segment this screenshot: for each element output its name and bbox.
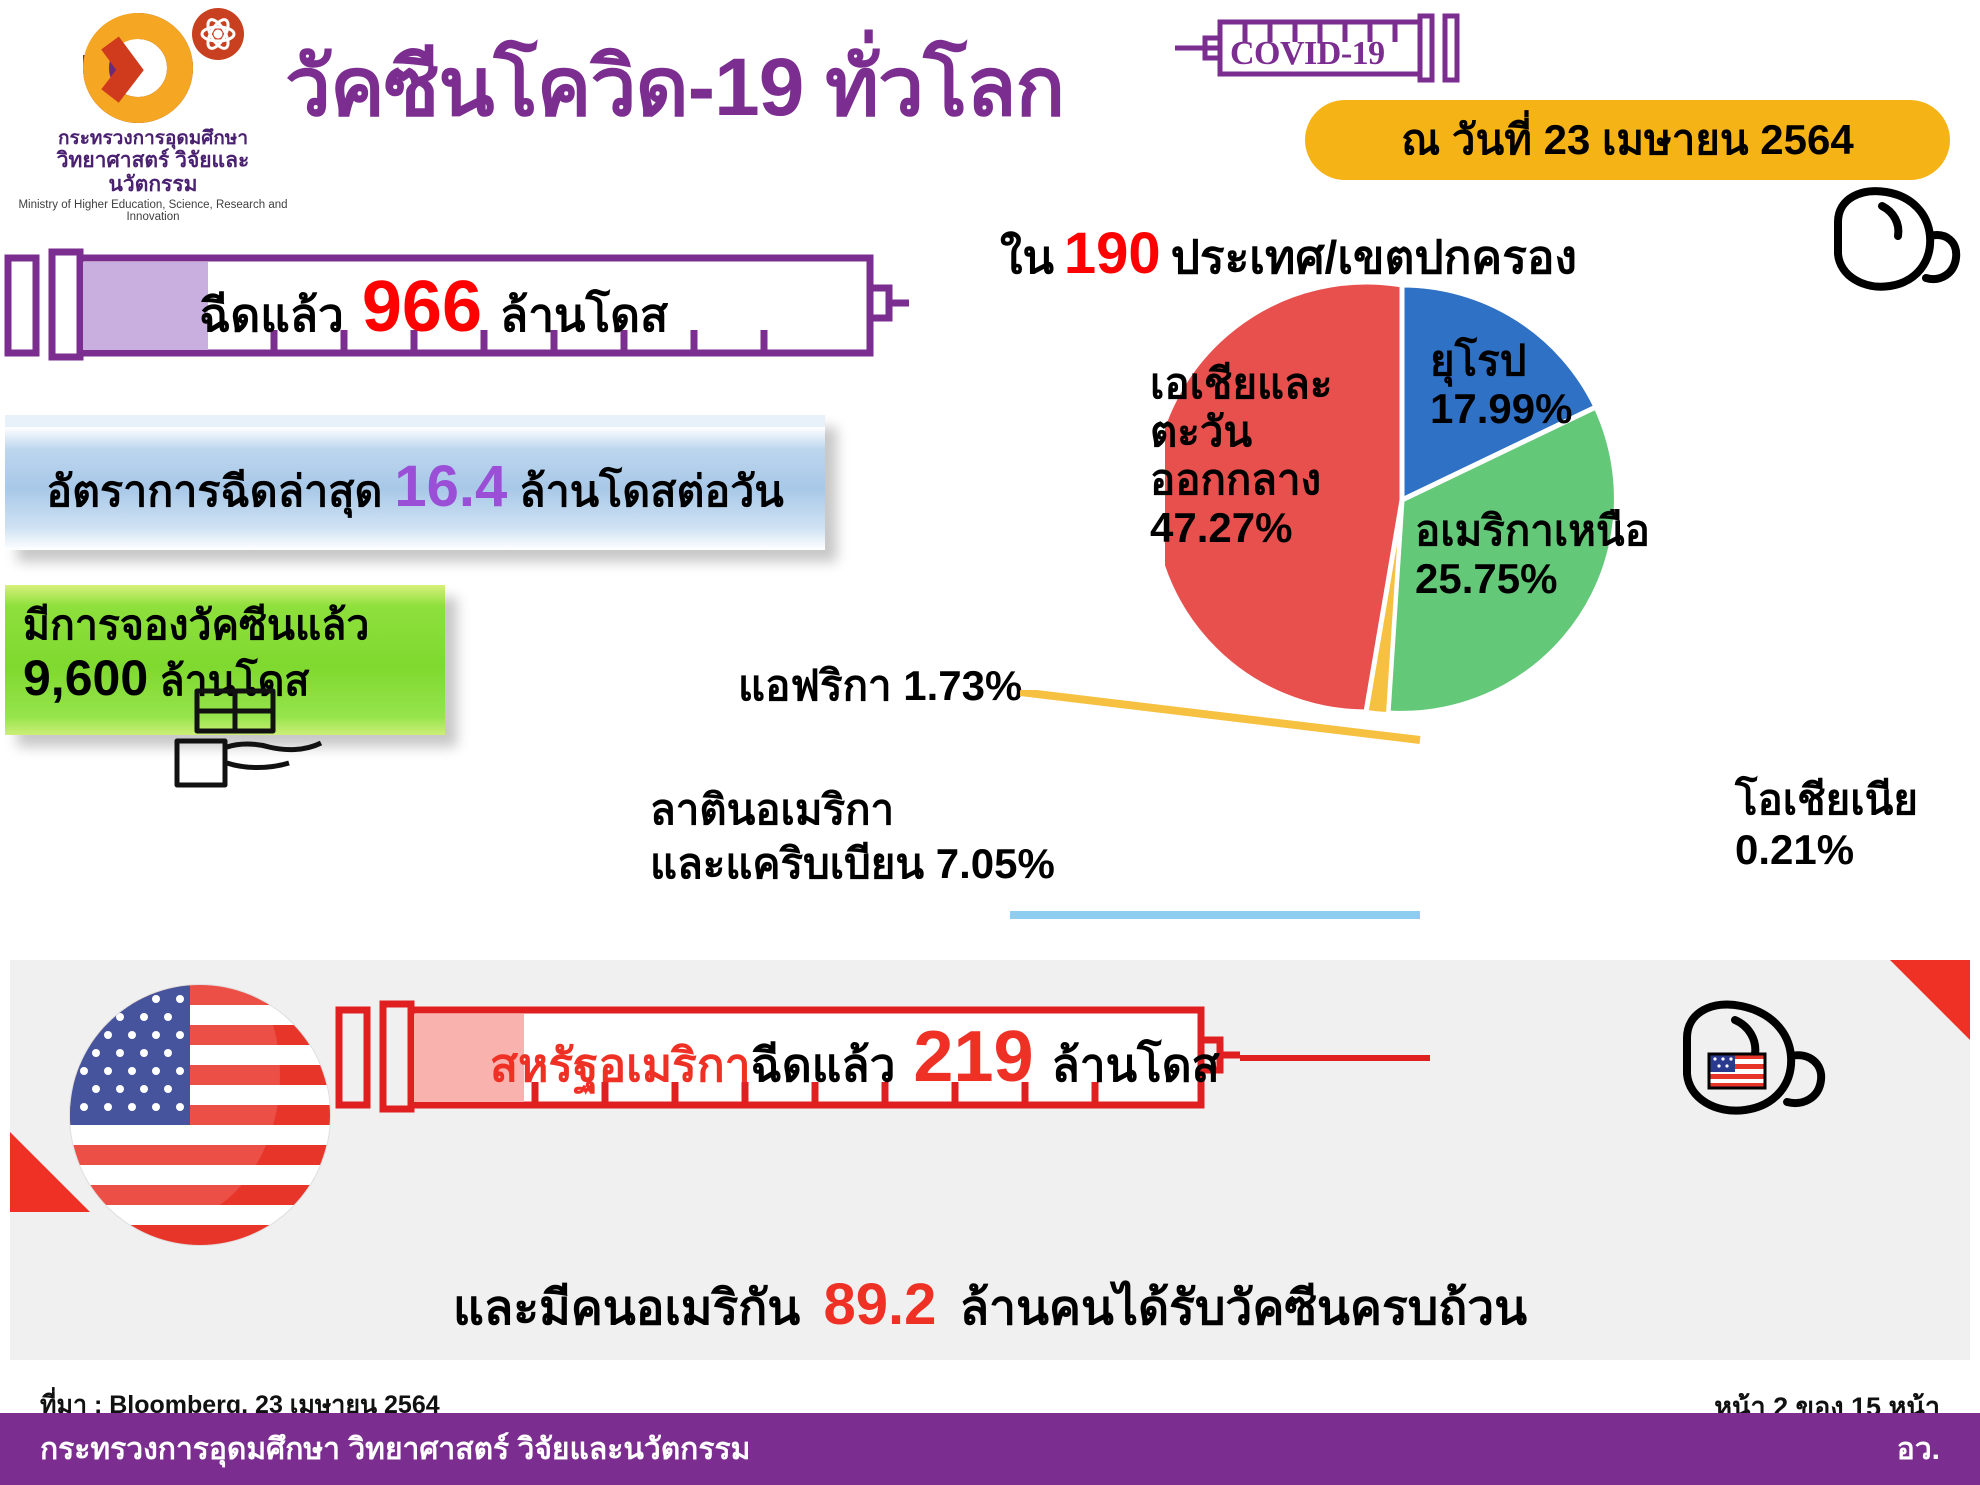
pie-label-asia-line3: ออกกลาง bbox=[1150, 456, 1332, 504]
pie-callout-oceania-label: โอเชียเนีย bbox=[1735, 775, 1918, 825]
global-doses-number: 966 bbox=[362, 266, 482, 348]
pie-label-europe-value: 17.99% bbox=[1430, 385, 1572, 433]
us-flag-patch-icon bbox=[1709, 1054, 1765, 1088]
pie-callout-africa-label: แอฟริกา 1.73% bbox=[738, 662, 1022, 709]
pie-label-asia-value: 47.27% bbox=[1150, 504, 1332, 552]
reserved-doses-line1: มีการจองวัคซีนแล้ว bbox=[23, 599, 427, 651]
footer-bar: กระทรวงการอุดมศึกษา วิทยาศาสตร์ วิจัยและ… bbox=[0, 1413, 1980, 1485]
daily-rate-suffix: ล้านโดสต่อวัน bbox=[519, 457, 783, 525]
usa-doses-label: สหรัฐอเมริกา ฉีดแล้ว 219 ล้านโดส bbox=[490, 1016, 1220, 1102]
countries-number: 190 bbox=[1064, 220, 1161, 287]
daily-rate-prefix: อัตราการฉีดล่าสุด bbox=[46, 457, 382, 525]
ministry-logo: กระทรวงการอุดมศึกษา วิทยาศาสตร์ วิจัยและ… bbox=[18, 8, 288, 223]
covid-badge-label: COVID-19 bbox=[1230, 35, 1385, 73]
pie-label-asia: เอเชียและ ตะวัน ออกกลาง 47.27% bbox=[1150, 360, 1332, 552]
logo-mark-icon bbox=[38, 8, 268, 128]
usa-fully-vaccinated-text: และมีคนอเมริกัน 89.2 ล้านคนได้รับวัคซีนค… bbox=[10, 1270, 1970, 1346]
covid-syringe-badge: COVID-19 bbox=[1165, 8, 1485, 88]
date-badge: ณ วันที่ 23 เมษายน 2564 bbox=[1305, 100, 1950, 180]
pie-callout-africa: แอฟริกา 1.73% bbox=[738, 653, 1022, 719]
usa-doses-number: 219 bbox=[913, 1016, 1033, 1098]
corner-decoration-top-right bbox=[1890, 960, 1970, 1040]
daily-rate-box: อัตราการฉีดล่าสุด 16.4 ล้านโดสต่อวัน bbox=[5, 415, 825, 550]
logo-caption-en: Ministry of Higher Education, Science, R… bbox=[18, 199, 288, 223]
pie-label-north-america-value: 25.75% bbox=[1415, 555, 1650, 603]
usa-doses-country: สหรัฐอเมริกา bbox=[490, 1029, 751, 1102]
global-doses-label: ฉีดแล้ว 966 ล้านโดส bbox=[199, 266, 668, 352]
countries-prefix: ใน bbox=[1000, 221, 1054, 294]
logo-caption-th-line1: กระทรวงการอุดมศึกษา bbox=[18, 128, 288, 149]
pie-label-north-america: อเมริกาเหนือ 25.75% bbox=[1415, 507, 1650, 603]
reserved-doses-number: 9,600 bbox=[23, 650, 148, 706]
logo-caption-th-line2: วิทยาศาสตร์ วิจัยและนวัตกรรม bbox=[18, 149, 288, 197]
pie-label-asia-line1: เอเชียและ bbox=[1150, 360, 1332, 408]
pie-label-europe-line1: ยุโรป bbox=[1430, 337, 1572, 385]
pie-label-europe: ยุโรป 17.99% bbox=[1430, 337, 1572, 433]
usa-doses-unit: ล้านโดส bbox=[1052, 1029, 1220, 1102]
footer-abbrev: อว. bbox=[1897, 1426, 1940, 1473]
footer-ministry-name: กระทรวงการอุดมศึกษา วิทยาศาสตร์ วิจัยและ… bbox=[40, 1426, 750, 1473]
global-doses-syringe: ฉีดแล้ว 966 ล้านโดส bbox=[4, 248, 904, 358]
regional-share-pie-chart: เอเชียและ ตะวัน ออกกลาง 47.27% ยุโรป 17.… bbox=[1165, 275, 1645, 735]
pie-leader-line-latin-america bbox=[1010, 875, 1430, 935]
page-title: วัคซีนโควิด-19 ทั่วโลก bbox=[285, 22, 1064, 152]
pie-callout-latin-america-label: ลาตินอเมริกา bbox=[650, 783, 1055, 837]
usa-doses-prefix: ฉีดแล้ว bbox=[751, 1029, 896, 1102]
daily-rate-number: 16.4 bbox=[394, 453, 507, 520]
usa-fully-suffix: ล้านคนได้รับวัคซีนครบถ้วน bbox=[960, 1282, 1527, 1335]
pie-label-north-america-line1: อเมริกาเหนือ bbox=[1415, 507, 1650, 555]
pie-label-asia-line2: ตะวัน bbox=[1150, 408, 1332, 456]
hand-holding-box-icon bbox=[165, 685, 335, 800]
usa-section-panel: สหรัฐอเมริกา ฉีดแล้ว 219 ล้านโดส bbox=[10, 960, 1970, 1360]
pie-leader-line-africa bbox=[1020, 690, 1440, 750]
global-doses-prefix: ฉีดแล้ว bbox=[199, 279, 344, 352]
us-flag-icon bbox=[70, 985, 330, 1245]
usa-doses-syringe: สหรัฐอเมริกา ฉีดแล้ว 219 ล้านโดส bbox=[335, 1000, 1235, 1110]
flexed-arm-icon bbox=[1820, 170, 1970, 325]
pie-callout-latin-america-value: และแคริบเบียน 7.05% bbox=[650, 837, 1055, 891]
flexed-arm-us-icon bbox=[1665, 980, 1845, 1145]
usa-fully-number: 89.2 bbox=[824, 1272, 937, 1337]
pie-callout-oceania-value: 0.21% bbox=[1735, 825, 1918, 875]
reserved-doses-box: มีการจองวัคซีนแล้ว 9,600 ล้านโดส bbox=[5, 585, 445, 735]
usa-fully-prefix: และมีคนอเมริกัน bbox=[453, 1282, 800, 1335]
usa-syringe-leader-line bbox=[1240, 1052, 1440, 1064]
pie-callout-latin-america: ลาตินอเมริกา และแคริบเบียน 7.05% bbox=[650, 783, 1055, 891]
global-doses-unit: ล้านโดส bbox=[500, 279, 668, 352]
pie-callout-oceania: โอเชียเนีย 0.21% bbox=[1735, 775, 1918, 875]
